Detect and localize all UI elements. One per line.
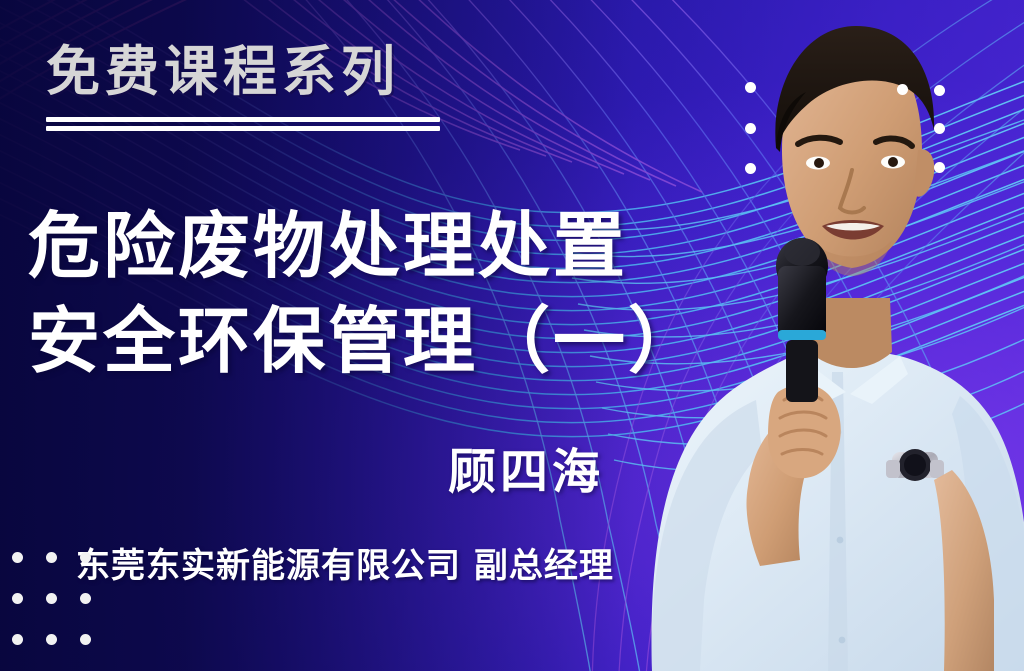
dot: [46, 634, 57, 645]
accent-dot: [745, 163, 756, 174]
title-line-2: 安全环保管理（一）: [28, 293, 708, 388]
dot: [80, 552, 91, 563]
accent-dot: [745, 123, 756, 134]
dot: [12, 552, 23, 563]
accent-dot: [897, 84, 908, 95]
header-block: 免费课程系列: [46, 44, 516, 131]
rule-top: [46, 117, 440, 122]
accent-dot: [934, 162, 945, 173]
course-title: 危险废物处理处置 安全环保管理（一）: [28, 198, 708, 388]
dot: [12, 634, 23, 645]
dot: [80, 593, 91, 604]
dot: [80, 634, 91, 645]
accent-dot: [934, 123, 945, 134]
dot: [46, 593, 57, 604]
dot: [12, 593, 23, 604]
accent-dot: [745, 82, 756, 93]
double-rule-divider: [46, 117, 440, 131]
course-poster: 免费课程系列 危险废物处理处置 安全环保管理（一） 顾四海 东莞东实新能源有限公…: [0, 0, 1024, 671]
speaker-name: 顾四海: [0, 432, 604, 502]
dot: [46, 552, 57, 563]
kicker-text: 免费课程系列: [46, 44, 516, 99]
speaker-role: 东莞东实新能源有限公司 副总经理: [76, 538, 614, 587]
title-line-1: 危险废物处理处置: [28, 198, 708, 293]
accent-dot: [934, 85, 945, 96]
rule-bottom: [46, 126, 440, 131]
dot-matrix-decoration: [12, 552, 114, 671]
